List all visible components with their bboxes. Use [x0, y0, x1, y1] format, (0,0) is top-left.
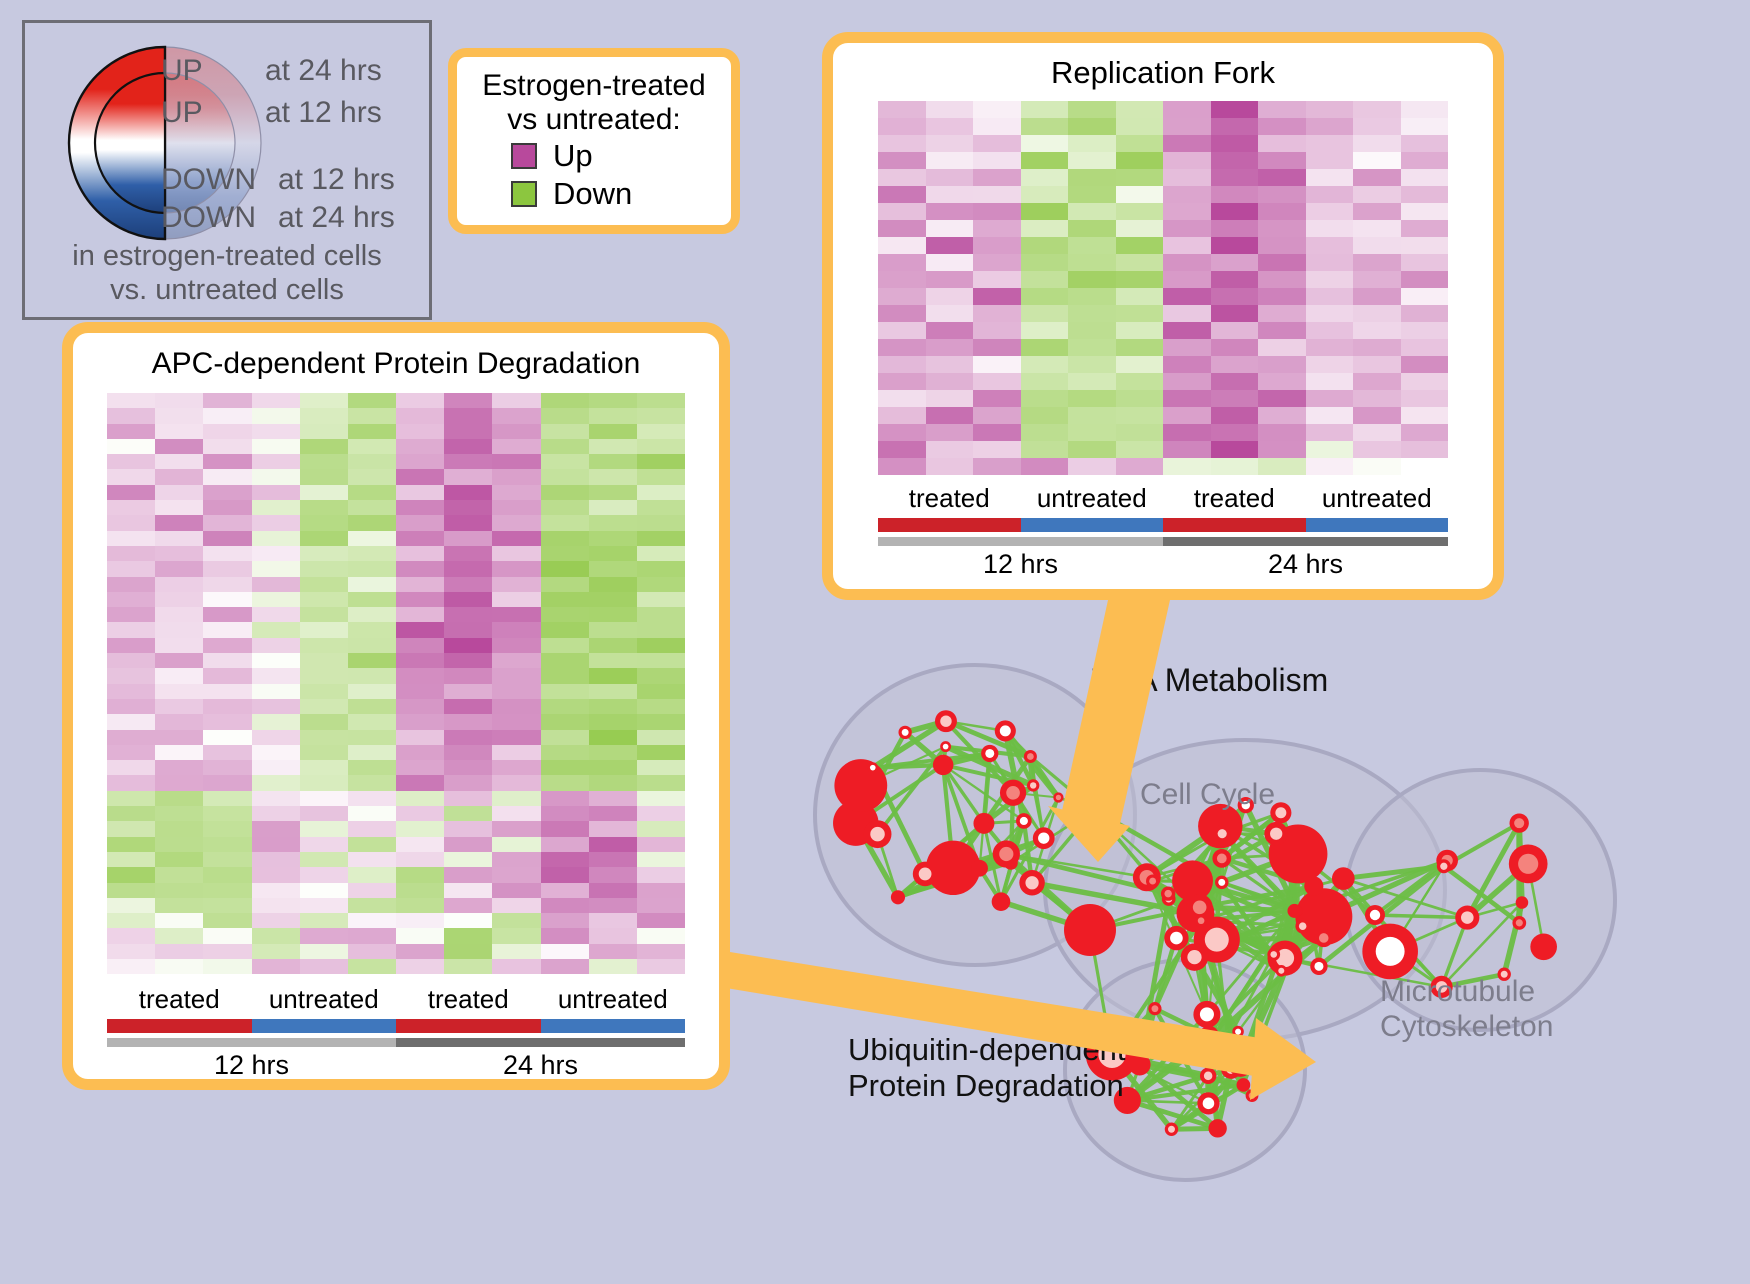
heatmap-cell — [1021, 288, 1069, 305]
heatmap-cell — [926, 288, 974, 305]
heatmap-cell — [1116, 186, 1164, 203]
heatmap-cell — [396, 607, 444, 622]
heatmap-cell — [589, 592, 637, 607]
network-node-core — [1056, 795, 1061, 800]
heatmap-cell — [1401, 373, 1449, 390]
heatmap-cell — [444, 393, 492, 408]
heatmap-cell — [1353, 322, 1401, 339]
heatmap-cell — [637, 898, 685, 913]
heatmap-cell — [1116, 203, 1164, 220]
heatmap-cell — [252, 454, 300, 469]
heatmap-cell — [396, 775, 444, 790]
heatmap-cell — [1258, 322, 1306, 339]
network-node[interactable] — [1064, 904, 1116, 956]
heatmap-cell — [1163, 407, 1211, 424]
timepoint-label: 12 hrs — [107, 1050, 396, 1081]
heatmap-cell — [1211, 356, 1259, 373]
heatmap-cell — [1353, 390, 1401, 407]
timepoint-labels: 12 hrs24 hrs — [878, 549, 1448, 580]
network-node[interactable] — [973, 813, 994, 834]
heatmap-cell — [1021, 407, 1069, 424]
heatmap-cell — [155, 668, 203, 683]
network-node[interactable] — [1516, 896, 1529, 909]
heatmap-cell — [589, 684, 637, 699]
heatmap-cell — [1306, 237, 1354, 254]
cluster-label-ubi-line1: Ubiquitin-dependent — [848, 1032, 1126, 1068]
updown-legend-title-line1: Estrogen-treated — [482, 69, 705, 103]
heatmap-cell — [1068, 322, 1116, 339]
heatmap-cell — [1211, 118, 1259, 135]
heatmap-cell — [348, 393, 396, 408]
heatmap-cell — [492, 531, 540, 546]
network-node-core — [1030, 782, 1036, 788]
heatmap-replication-fork — [878, 101, 1448, 475]
heatmap-cell — [203, 531, 251, 546]
network-node-core — [870, 827, 884, 841]
heatmap-cell — [1163, 271, 1211, 288]
heatmap-cell — [444, 837, 492, 852]
heatmap-cell — [300, 485, 348, 500]
network-node[interactable] — [834, 759, 887, 812]
treatment-bar-segment — [252, 1019, 397, 1033]
heatmap-cell — [348, 607, 396, 622]
heatmap-cell — [348, 806, 396, 821]
heatmap-cell — [492, 821, 540, 836]
heatmap-cell — [541, 898, 589, 913]
heatmap-cell — [1258, 339, 1306, 356]
heatmap-cell — [1306, 169, 1354, 186]
network-node-core — [1217, 854, 1227, 864]
heatmap-cell — [878, 288, 926, 305]
heatmap-cell — [1021, 101, 1069, 118]
color-key-footer-line1: in estrogen-treated cells — [25, 239, 429, 273]
heatmap-cell — [878, 220, 926, 237]
heatmap-cell — [492, 607, 540, 622]
heatmap-cell — [300, 806, 348, 821]
heatmap-cell — [252, 928, 300, 943]
heatmap-cell — [396, 714, 444, 729]
heatmap-cell — [637, 653, 685, 668]
heatmap-cell — [589, 653, 637, 668]
heatmap-cell — [1258, 288, 1306, 305]
heatmap-cell — [1021, 152, 1069, 169]
heatmap-cell — [300, 928, 348, 943]
heatmap-cell — [203, 714, 251, 729]
heatmap-cell — [1258, 169, 1306, 186]
heatmap-cell — [444, 852, 492, 867]
heatmap-cell — [1306, 288, 1354, 305]
cluster-label-mt-line1: Microtubule — [1380, 975, 1553, 1010]
heatmap-cell — [1353, 339, 1401, 356]
heatmap-cell — [589, 944, 637, 959]
heatmap-cell — [1258, 441, 1306, 458]
heatmap-cell — [1163, 339, 1211, 356]
heatmap-cell — [973, 356, 1021, 373]
heatmap-cell — [155, 883, 203, 898]
heatmap-cell — [1116, 237, 1164, 254]
heatmap-cell — [444, 806, 492, 821]
heatmap-cell — [1163, 169, 1211, 186]
heatmap-cell — [637, 867, 685, 882]
heatmap-cell — [107, 561, 155, 576]
heatmap-cell — [348, 928, 396, 943]
heatmap-cell — [396, 469, 444, 484]
heatmap-cell — [444, 684, 492, 699]
heatmap-cell — [541, 577, 589, 592]
heatmap-cell — [1258, 390, 1306, 407]
heatmap-cell — [252, 561, 300, 576]
heatmap-cell — [444, 699, 492, 714]
heatmap-cell — [1401, 441, 1449, 458]
timepoint-bar-segment — [1163, 537, 1448, 546]
legend-label-up: Up — [553, 138, 593, 174]
legend-item-down: Down — [511, 176, 632, 212]
key-label-up-24: UP — [161, 54, 203, 88]
heatmap-cell — [396, 928, 444, 943]
heatmap-cell — [203, 760, 251, 775]
network-node[interactable] — [1237, 1078, 1251, 1092]
heatmap-cell — [107, 745, 155, 760]
heatmap-cell — [155, 424, 203, 439]
heatmap-cell — [1306, 186, 1354, 203]
heatmap-cell — [1021, 220, 1069, 237]
heatmap-cell — [541, 653, 589, 668]
heatmap-cell — [637, 730, 685, 745]
heatmap-cell — [348, 883, 396, 898]
heatmap-cell — [252, 577, 300, 592]
heatmap-cell — [348, 622, 396, 637]
timepoint-color-bar — [878, 537, 1448, 546]
heatmap-cell — [1116, 118, 1164, 135]
heatmap-cell — [541, 944, 589, 959]
heatmap-cell — [155, 393, 203, 408]
network-node-core — [1193, 900, 1207, 914]
sample-group-label: treated — [878, 483, 1021, 514]
heatmap-cell — [637, 561, 685, 576]
heatmap-cell — [203, 791, 251, 806]
heatmap-cell — [1068, 101, 1116, 118]
heatmap-cell — [203, 439, 251, 454]
heatmap-cell — [444, 745, 492, 760]
heatmap-cell — [541, 500, 589, 515]
heatmap-cell — [252, 531, 300, 546]
heatmap-cell — [1258, 254, 1306, 271]
heatmap-cell — [589, 607, 637, 622]
heatmap-cell — [541, 622, 589, 637]
heatmap-cell — [155, 561, 203, 576]
heatmap-cell — [492, 454, 540, 469]
cluster-label-microtubule-cytoskeleton: Microtubule Cytoskeleton — [1380, 975, 1553, 1044]
heatmap-cell — [107, 393, 155, 408]
heatmap-cell — [444, 638, 492, 653]
heatmap-cell — [589, 745, 637, 760]
cluster-label-dna-metabolism: DNA Metabolism — [1090, 662, 1328, 699]
network-node-core — [999, 847, 1013, 861]
heatmap-cell — [1116, 339, 1164, 356]
heatmap-cell — [492, 928, 540, 943]
heatmap-cell — [348, 439, 396, 454]
heatmap-cell — [1211, 186, 1259, 203]
network-node[interactable] — [1172, 860, 1213, 901]
network-node[interactable] — [1304, 876, 1323, 895]
heatmap-cell — [252, 821, 300, 836]
heatmap-cell — [1163, 118, 1211, 135]
color-key-box: UP at 24 hrs UP at 12 hrs DOWN at 12 hrs… — [22, 20, 432, 320]
heatmap-cell — [300, 791, 348, 806]
heatmap-cell — [541, 408, 589, 423]
heatmap-cell — [155, 806, 203, 821]
heatmap-cell — [637, 684, 685, 699]
heatmap-cell — [348, 760, 396, 775]
heatmap-cell — [589, 515, 637, 530]
heatmap-cell — [1258, 407, 1306, 424]
heatmap-cell — [444, 898, 492, 913]
heatmap-cell — [107, 531, 155, 546]
heatmap-cell — [589, 898, 637, 913]
heatmap-cell — [107, 439, 155, 454]
heatmap-cell — [1021, 135, 1069, 152]
heatmap-cell — [1068, 152, 1116, 169]
heatmap-cell — [155, 500, 203, 515]
heatmap-cell — [348, 653, 396, 668]
heatmap-cell — [492, 424, 540, 439]
sample-group-label: treated — [1163, 483, 1306, 514]
heatmap-cell — [252, 699, 300, 714]
heatmap-cell — [203, 454, 251, 469]
heatmap-cell — [396, 531, 444, 546]
network-node[interactable] — [1287, 904, 1301, 918]
network-node-core — [1025, 876, 1038, 889]
heatmap-cell — [203, 577, 251, 592]
network-node[interactable] — [992, 892, 1011, 911]
heatmap-cell — [252, 592, 300, 607]
heatmap-cell — [589, 531, 637, 546]
heatmap-cell — [878, 135, 926, 152]
heatmap-cell — [155, 653, 203, 668]
heatmap-cell — [1306, 407, 1354, 424]
network-node[interactable] — [971, 860, 988, 877]
heatmap-cell — [1258, 203, 1306, 220]
heatmap-cell — [878, 390, 926, 407]
heatmap-cell — [1258, 356, 1306, 373]
network-node-core — [1209, 1036, 1215, 1042]
network-node[interactable] — [1229, 1053, 1253, 1077]
heatmap-cell — [155, 546, 203, 561]
heatmap-cell — [203, 515, 251, 530]
network-node[interactable] — [1332, 867, 1355, 890]
heatmap-cell — [926, 424, 974, 441]
cluster-label-ubi-line2: Protein Degradation — [848, 1068, 1126, 1104]
heatmap-cell — [444, 424, 492, 439]
heatmap-cell — [252, 638, 300, 653]
heatmap-cell — [1163, 203, 1211, 220]
heatmap-cell — [444, 668, 492, 683]
heatmap-cell — [444, 913, 492, 928]
heatmap-cell — [203, 653, 251, 668]
heatmap-cell — [300, 883, 348, 898]
heatmap-cell — [203, 730, 251, 745]
heatmap-cell — [589, 577, 637, 592]
heatmap-cell — [1211, 203, 1259, 220]
heatmap-cell — [589, 500, 637, 515]
heatmap-cell — [1021, 339, 1069, 356]
panel-title-apc: APC-dependent Protein Degradation — [73, 347, 719, 381]
heatmap-cell — [973, 339, 1021, 356]
network-node[interactable] — [891, 890, 905, 904]
heatmap-cell — [878, 424, 926, 441]
heatmap-cell — [1353, 135, 1401, 152]
heatmap-cell — [396, 791, 444, 806]
heatmap-cell — [1163, 441, 1211, 458]
heatmap-cell — [589, 806, 637, 821]
heatmap-cell — [444, 714, 492, 729]
heatmap-cell — [1353, 237, 1401, 254]
heatmap-cell — [1116, 135, 1164, 152]
heatmap-cell — [926, 186, 974, 203]
heatmap-cell — [1021, 186, 1069, 203]
network-node-core — [1370, 910, 1380, 920]
network-node[interactable] — [1208, 1119, 1226, 1137]
heatmap-cell — [1258, 186, 1306, 203]
heatmap-cell — [444, 439, 492, 454]
heatmap-cell — [1021, 322, 1069, 339]
heatmap-cell — [1211, 135, 1259, 152]
heatmap-cell — [1306, 203, 1354, 220]
heatmap-cell — [1401, 288, 1449, 305]
heatmap-cell — [1401, 424, 1449, 441]
heatmap-cell — [107, 913, 155, 928]
heatmap-cell — [107, 928, 155, 943]
heatmap-cell — [1021, 373, 1069, 390]
heatmap-cell — [396, 745, 444, 760]
heatmap-cell — [1353, 152, 1401, 169]
heatmap-cell — [1258, 135, 1306, 152]
heatmap-cell — [637, 546, 685, 561]
heatmap-cell — [1306, 135, 1354, 152]
heatmap-cell — [637, 424, 685, 439]
heatmap-cell — [155, 454, 203, 469]
heatmap-cell — [396, 561, 444, 576]
network-node-core — [1218, 879, 1225, 886]
timepoint-bar-segment — [396, 1038, 685, 1047]
heatmap-cell — [541, 959, 589, 974]
network-node-core — [985, 749, 994, 758]
heatmap-cell — [637, 454, 685, 469]
heatmap-cell — [973, 322, 1021, 339]
heatmap-cell — [107, 546, 155, 561]
heatmap-cell — [300, 439, 348, 454]
heatmap-cell — [252, 730, 300, 745]
heatmap-cell — [155, 577, 203, 592]
network-node[interactable] — [933, 755, 954, 776]
heatmap-cell — [444, 653, 492, 668]
sample-group-label: untreated — [1021, 483, 1164, 514]
heatmap-cell — [1068, 203, 1116, 220]
network-node-core — [1198, 917, 1205, 924]
heatmap-cell — [396, 485, 444, 500]
heatmap-cell — [1163, 254, 1211, 271]
heatmap-cell — [1211, 458, 1259, 475]
heatmap-cell — [541, 760, 589, 775]
heatmap-cell — [1021, 271, 1069, 288]
sample-group-label: untreated — [252, 984, 397, 1015]
heatmap-cell — [1211, 169, 1259, 186]
heatmap-cell — [300, 408, 348, 423]
heatmap-cell — [1401, 305, 1449, 322]
heatmap-cell — [1068, 356, 1116, 373]
heatmap-cell — [252, 546, 300, 561]
key-label-up-12: UP — [161, 96, 203, 130]
heatmap-cell — [444, 821, 492, 836]
heatmap-cell — [541, 546, 589, 561]
heatmap-cell — [1401, 135, 1449, 152]
heatmap-cell — [107, 898, 155, 913]
network-node-core — [1314, 962, 1323, 971]
network-node[interactable] — [1083, 799, 1105, 821]
heatmap-cell — [444, 561, 492, 576]
heatmap-cell — [878, 441, 926, 458]
heatmap-cell — [107, 791, 155, 806]
heatmap-cell — [637, 500, 685, 515]
heatmap-cell — [444, 622, 492, 637]
heatmap-cell — [541, 485, 589, 500]
heatmap-cell — [396, 577, 444, 592]
heatmap-cell — [541, 561, 589, 576]
sample-annotation-apc: treateduntreatedtreateduntreated 12 hrs2… — [107, 984, 685, 1081]
heatmap-cell — [1163, 186, 1211, 203]
heatmap-cell — [300, 959, 348, 974]
heatmap-cell — [1353, 271, 1401, 288]
pathway-network-diagram: DNA Metabolism Cell Cycle Microtubule Cy… — [790, 600, 1750, 1279]
heatmap-cell — [1306, 356, 1354, 373]
heatmap-cell — [1306, 390, 1354, 407]
heatmap-cell — [300, 622, 348, 637]
heatmap-cell — [1353, 288, 1401, 305]
network-node[interactable] — [1129, 1054, 1151, 1076]
heatmap-cell — [252, 806, 300, 821]
network-node[interactable] — [1530, 933, 1557, 960]
heatmap-cell — [1401, 220, 1449, 237]
heatmap-cell — [926, 305, 974, 322]
heatmap-cell — [973, 203, 1021, 220]
heatmap-cell — [1258, 237, 1306, 254]
heatmap-cell — [1068, 458, 1116, 475]
heatmap-cell — [348, 500, 396, 515]
heatmap-cell — [492, 653, 540, 668]
heatmap-cell — [1306, 118, 1354, 135]
heatmap-cell — [973, 186, 1021, 203]
heatmap-cell — [155, 775, 203, 790]
heatmap-cell — [1068, 407, 1116, 424]
heatmap-cell — [1401, 271, 1449, 288]
heatmap-cell — [492, 500, 540, 515]
heatmap-cell — [541, 775, 589, 790]
network-node-core — [1205, 928, 1229, 952]
heatmap-cell — [1116, 101, 1164, 118]
heatmap-cell — [1306, 271, 1354, 288]
heatmap-cell — [348, 775, 396, 790]
timepoint-color-bar — [107, 1038, 685, 1047]
heatmap-cell — [396, 837, 444, 852]
heatmap-cell — [589, 424, 637, 439]
heatmap-cell — [637, 928, 685, 943]
heatmap-cell — [1306, 424, 1354, 441]
network-node-core — [1204, 1072, 1213, 1081]
heatmap-cell — [396, 439, 444, 454]
heatmap-cell — [107, 837, 155, 852]
heatmap-cell — [589, 883, 637, 898]
heatmap-cell — [1353, 169, 1401, 186]
